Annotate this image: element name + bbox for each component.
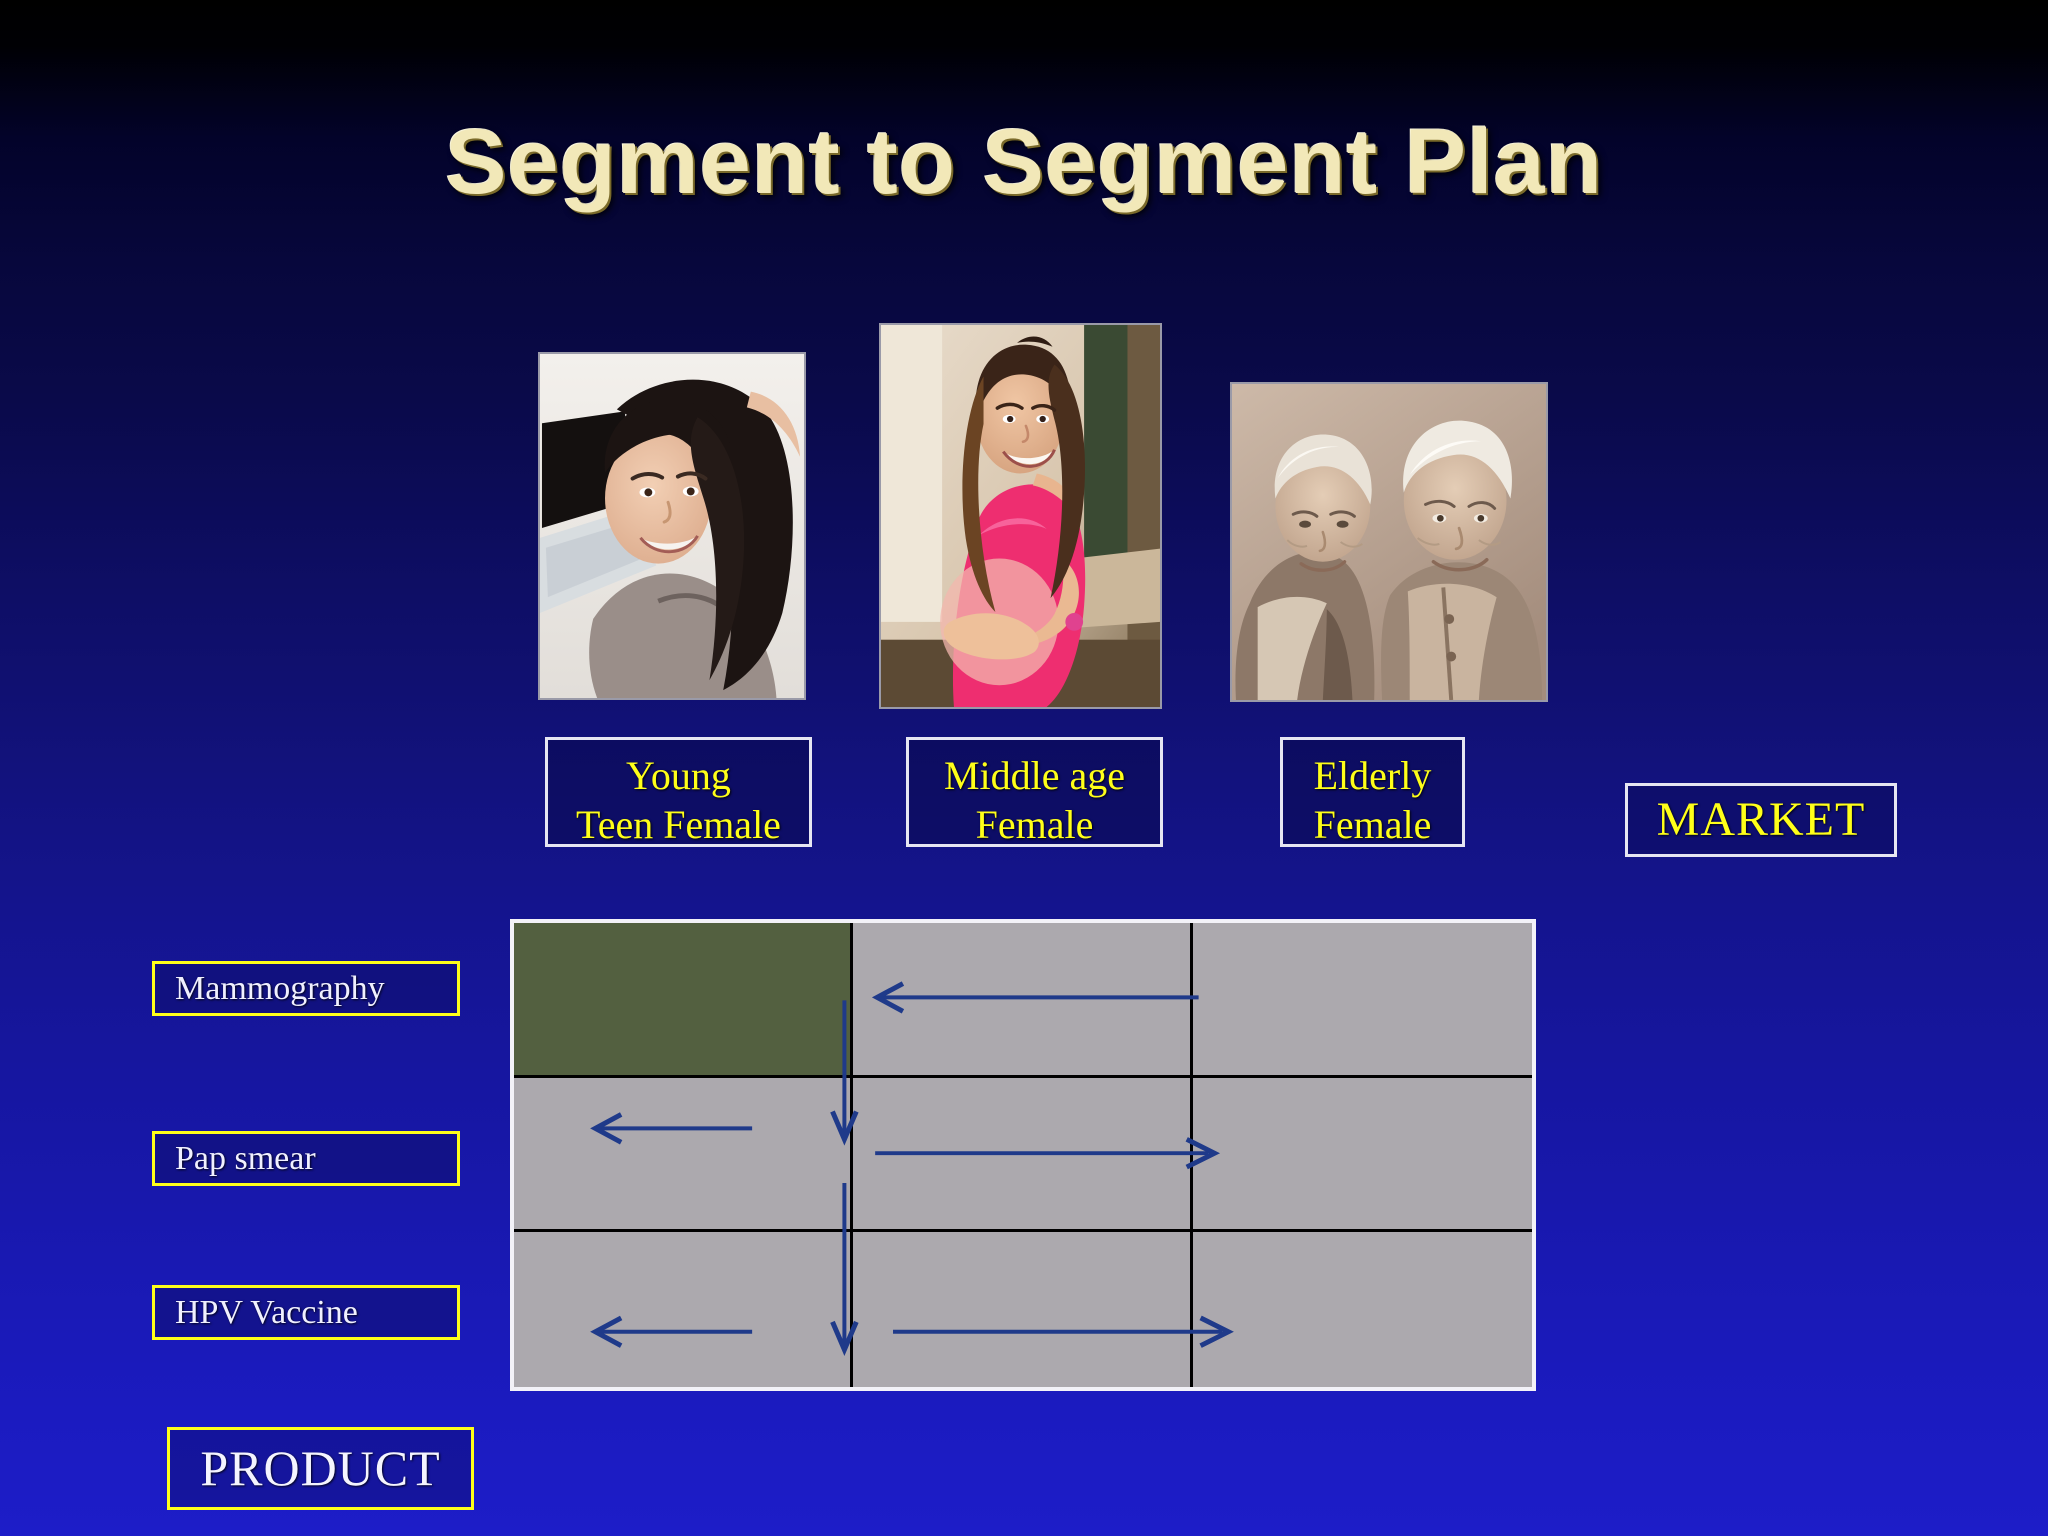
matrix-cell-pap-smear-young-teen-female[interactable]: [514, 1078, 853, 1233]
matrix-cell-hpv-vaccine-middle-age-female[interactable]: [853, 1232, 1192, 1387]
product-row-label-mammography: Mammography: [152, 961, 460, 1016]
segment-caption-line2: Teen Female: [548, 801, 809, 850]
segment-caption-line1: Middle age: [909, 752, 1160, 801]
market-axis-label: MARKET: [1625, 783, 1897, 857]
matrix-cell-pap-smear-elderly-female[interactable]: [1193, 1078, 1532, 1233]
young-teen-female-image: [540, 354, 804, 698]
product-row-label-pap-smear: Pap smear: [152, 1131, 460, 1186]
matrix-cell-hpv-vaccine-young-teen-female[interactable]: [514, 1232, 853, 1387]
segment-photo-middle-age-female: [879, 323, 1162, 709]
segment-matrix-grid: [514, 923, 1532, 1387]
segment-matrix: [510, 919, 1536, 1391]
matrix-cell-mammography-young-teen-female[interactable]: [514, 923, 853, 1078]
matrix-cell-pap-smear-middle-age-female[interactable]: [853, 1078, 1192, 1233]
elderly-female-image: [1232, 384, 1546, 700]
product-axis-label: PRODUCT: [167, 1427, 474, 1510]
segment-caption-middle-age-female: Middle age Female: [906, 737, 1163, 847]
segment-caption-line1: Young: [548, 752, 809, 801]
page-title: Segment to Segment Plan: [0, 110, 2048, 215]
segment-photo-elderly-female: [1230, 382, 1548, 702]
slide-canvas: Segment to Segment Plan: [0, 0, 2048, 1536]
segment-caption-line1: Elderly: [1283, 752, 1462, 801]
segment-caption-young-teen-female: Young Teen Female: [545, 737, 812, 847]
segment-caption-line2: Female: [1283, 801, 1462, 850]
matrix-cell-mammography-middle-age-female[interactable]: [853, 923, 1192, 1078]
middle-age-female-image: [881, 325, 1160, 707]
matrix-cell-mammography-elderly-female[interactable]: [1193, 923, 1532, 1078]
matrix-cell-hpv-vaccine-elderly-female[interactable]: [1193, 1232, 1532, 1387]
segment-caption-elderly-female: Elderly Female: [1280, 737, 1465, 847]
segment-photo-young-teen-female: [538, 352, 806, 700]
segment-caption-line2: Female: [909, 801, 1160, 850]
product-row-label-hpv-vaccine: HPV Vaccine: [152, 1285, 460, 1340]
